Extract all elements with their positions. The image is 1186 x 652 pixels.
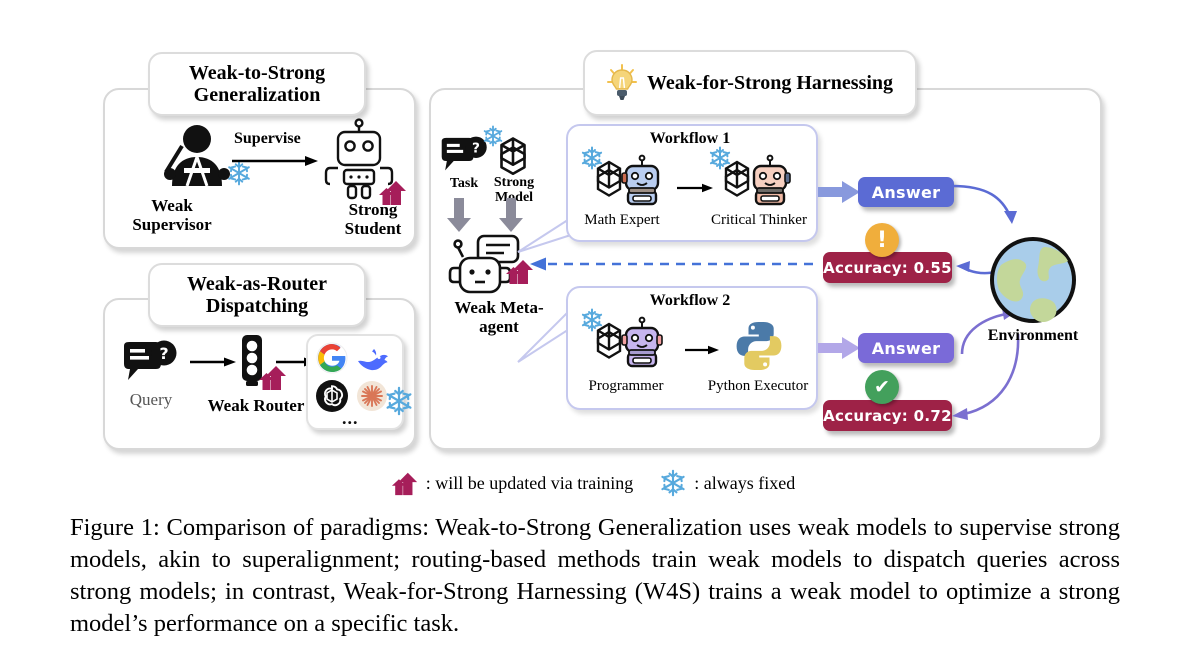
check-icon: ✔ — [865, 370, 899, 404]
snowflake-icon — [384, 386, 414, 416]
workflow-2-agent-1-label: Programmer — [576, 378, 676, 395]
query-label: Query — [118, 390, 184, 409]
accuracy-pill-1: Accuracy: 0.55 — [823, 252, 952, 283]
panel-weak-for-strong-title-text: Weak-for-Strong Harnessing — [647, 72, 893, 94]
supervise-arrow — [232, 154, 318, 168]
task-to-agent-arrow — [446, 198, 472, 234]
snowflake-icon — [659, 469, 687, 497]
legend-trainable-text: : will be updated via training — [426, 473, 633, 494]
teacher-icon — [160, 124, 234, 190]
svg-text:?: ? — [472, 140, 480, 156]
snowflake-icon — [482, 125, 504, 147]
globe-icon — [988, 235, 1078, 325]
legend: : will be updated via training : always … — [0, 462, 1186, 504]
workflow-1-to-answer-arrow — [818, 180, 860, 204]
warning-icon: ! — [865, 223, 899, 257]
panel-weak-to-strong-title-text: Weak-to-Strong Generalization — [150, 62, 364, 107]
legend-frozen-text: : always fixed — [694, 473, 795, 494]
chat-question-icon: ? — [440, 136, 488, 174]
workflow-1-agent-2-label: Critical Thinker — [698, 212, 820, 229]
workflow-1-inner-arrow — [677, 182, 713, 194]
deepseek-whale-logo — [356, 344, 390, 372]
programmer-agent-icon — [589, 316, 663, 368]
workflow-2-to-answer-arrow — [818, 336, 860, 360]
feedback-dashed-arrow — [530, 256, 820, 272]
answer-pill-1[interactable]: Answer — [858, 177, 954, 207]
environment-label: Environment — [975, 327, 1091, 345]
up-arrows-icon — [391, 469, 419, 497]
svg-text:?: ? — [159, 344, 168, 363]
workflow-2-agent-2-label: Python Executor — [694, 378, 822, 395]
panel-weak-for-strong-title: Weak-for-Strong Harnessing — [583, 50, 917, 116]
legend-item-frozen: : always fixed — [659, 469, 795, 497]
workflow-2-inner-arrow — [685, 344, 719, 356]
router-arrow-1 — [190, 356, 236, 368]
lightbulb-icon — [607, 64, 637, 102]
legend-item-trainable: : will be updated via training — [391, 469, 633, 497]
panel-weak-to-strong-title: Weak-to-Strong Generalization — [148, 52, 366, 116]
panel-weak-as-router-title-text: Weak-as-Router Dispatching — [150, 273, 364, 318]
chat-question-icon: ? — [122, 340, 178, 384]
weak-router-label: Weak Router — [198, 396, 314, 415]
strong-student-label: Strong Student — [319, 200, 427, 238]
weak-supervisor-label: Weak Supervisor — [125, 196, 219, 234]
panel-weak-as-router-title: Weak-as-Router Dispatching — [148, 263, 366, 327]
supervise-arrow-label: Supervise — [234, 130, 301, 148]
critical-thinker-agent-icon — [717, 154, 791, 206]
more-models-ellipsis: ... — [342, 408, 359, 429]
math-expert-agent-icon — [589, 154, 663, 206]
google-logo — [316, 342, 348, 374]
workflow-1-agent-1-label: Math Expert — [570, 212, 674, 229]
python-logo — [733, 320, 785, 372]
figure-caption: Figure 1: Comparison of paradigms: Weak-… — [70, 512, 1120, 639]
